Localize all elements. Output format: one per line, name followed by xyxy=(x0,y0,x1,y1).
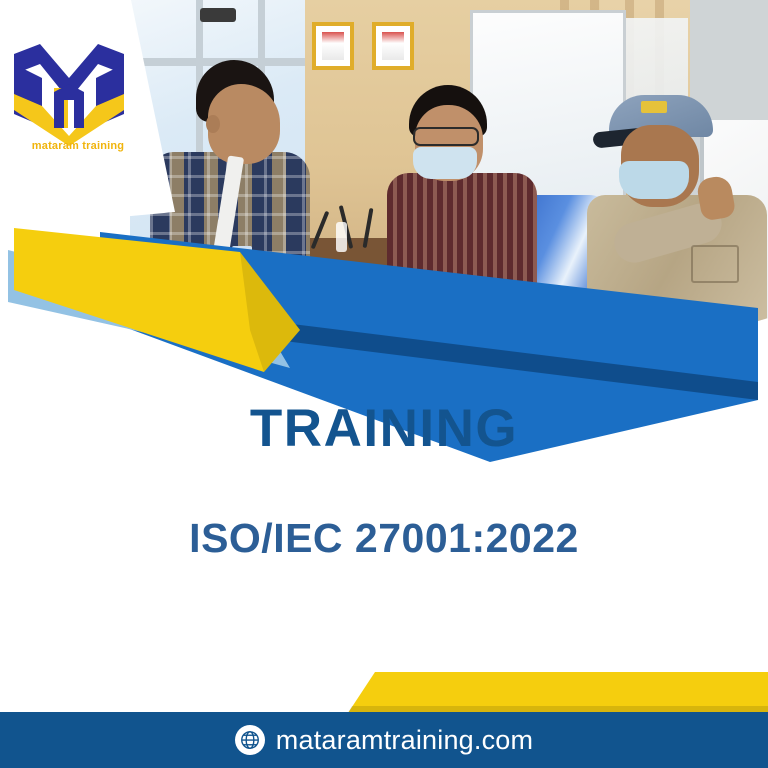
participant-striped-shirt xyxy=(395,85,525,300)
mataram-logo[interactable]: mataram training xyxy=(14,44,124,156)
wall-portrait xyxy=(312,22,354,70)
projector xyxy=(200,8,236,22)
mataram-m-logo xyxy=(14,44,124,136)
wall-portrait xyxy=(372,22,414,70)
website-url[interactable]: mataramtraining.com xyxy=(276,725,533,756)
globe-icon xyxy=(235,725,265,755)
page-subtitle: ISO/IEC 27001:2022 xyxy=(0,515,768,562)
training-poster: mataram training TRAINING ISO/IEC 27001:… xyxy=(0,0,768,768)
logo-wordmark: mataram training xyxy=(14,140,142,152)
water-bottle xyxy=(336,222,347,252)
participant-khaki-jacket xyxy=(595,95,768,325)
page-title: TRAINING xyxy=(0,398,768,459)
footer-bar: mataramtraining.com xyxy=(0,712,768,768)
